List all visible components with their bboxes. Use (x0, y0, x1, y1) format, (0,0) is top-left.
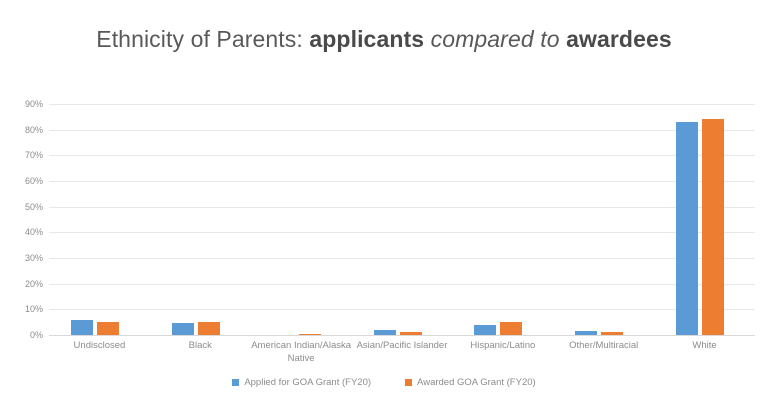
legend-swatch-icon (232, 379, 239, 386)
y-axis: 0%10%20%30%40%50%60%70%80%90% (0, 104, 43, 335)
y-axis-tick-label: 90% (0, 99, 43, 109)
legend-swatch-icon (405, 379, 412, 386)
chart-container: Ethnicity of Parents: applicants compare… (0, 0, 768, 401)
bar (601, 332, 623, 335)
bar (702, 119, 724, 335)
bar-group (49, 104, 150, 335)
x-axis: UndisclosedBlackAmerican Indian/Alaska N… (49, 339, 755, 371)
bar (299, 334, 321, 335)
y-axis-tick-label: 20% (0, 279, 43, 289)
x-axis-tick-label: American Indian/Alaska Native (251, 339, 352, 365)
bar-group (553, 104, 654, 335)
bar-group (654, 104, 755, 335)
y-axis-tick-label: 50% (0, 202, 43, 212)
legend-label: Awarded GOA Grant (FY20) (417, 377, 536, 388)
legend-item[interactable]: Applied for GOA Grant (FY20) (232, 377, 371, 388)
y-axis-tick-label: 70% (0, 150, 43, 160)
x-axis-tick-label: Undisclosed (49, 339, 150, 352)
chart-title: Ethnicity of Parents: applicants compare… (84, 22, 684, 56)
chart-title-italic-compared-to: compared to (424, 26, 566, 52)
chart-title-bold-applicants: applicants (309, 26, 424, 52)
y-axis-tick-label: 0% (0, 330, 43, 340)
y-axis-tick-label: 30% (0, 253, 43, 263)
chart-legend: Applied for GOA Grant (FY20)Awarded GOA … (0, 377, 768, 388)
y-axis-tick-label: 10% (0, 304, 43, 314)
gridline-0 (49, 335, 755, 336)
y-axis-tick-label: 40% (0, 227, 43, 237)
x-axis-tick-label: Asian/Pacific Islander (352, 339, 453, 352)
bars-layer (49, 104, 755, 335)
x-axis-tick-label: Other/Multiracial (553, 339, 654, 352)
bar (676, 122, 698, 335)
x-axis-tick-label: Hispanic/Latino (452, 339, 553, 352)
bar (198, 322, 220, 335)
x-axis-tick-label: White (654, 339, 755, 352)
legend-item[interactable]: Awarded GOA Grant (FY20) (405, 377, 536, 388)
bar (71, 320, 93, 335)
bar (400, 332, 422, 335)
chart-title-lead: Ethnicity of Parents: (96, 26, 309, 52)
bar (374, 330, 396, 335)
bar-group (452, 104, 553, 335)
bar-group (251, 104, 352, 335)
y-axis-tick-label: 80% (0, 125, 43, 135)
bar-group (150, 104, 251, 335)
bar-group (352, 104, 453, 335)
bar (474, 325, 496, 335)
chart-title-bold-awardees: awardees (566, 26, 672, 52)
y-axis-tick-label: 60% (0, 176, 43, 186)
bar (97, 322, 119, 335)
bar (575, 331, 597, 335)
bar (500, 322, 522, 335)
x-axis-tick-label: Black (150, 339, 251, 352)
legend-label: Applied for GOA Grant (FY20) (244, 377, 371, 388)
bar (172, 323, 194, 335)
